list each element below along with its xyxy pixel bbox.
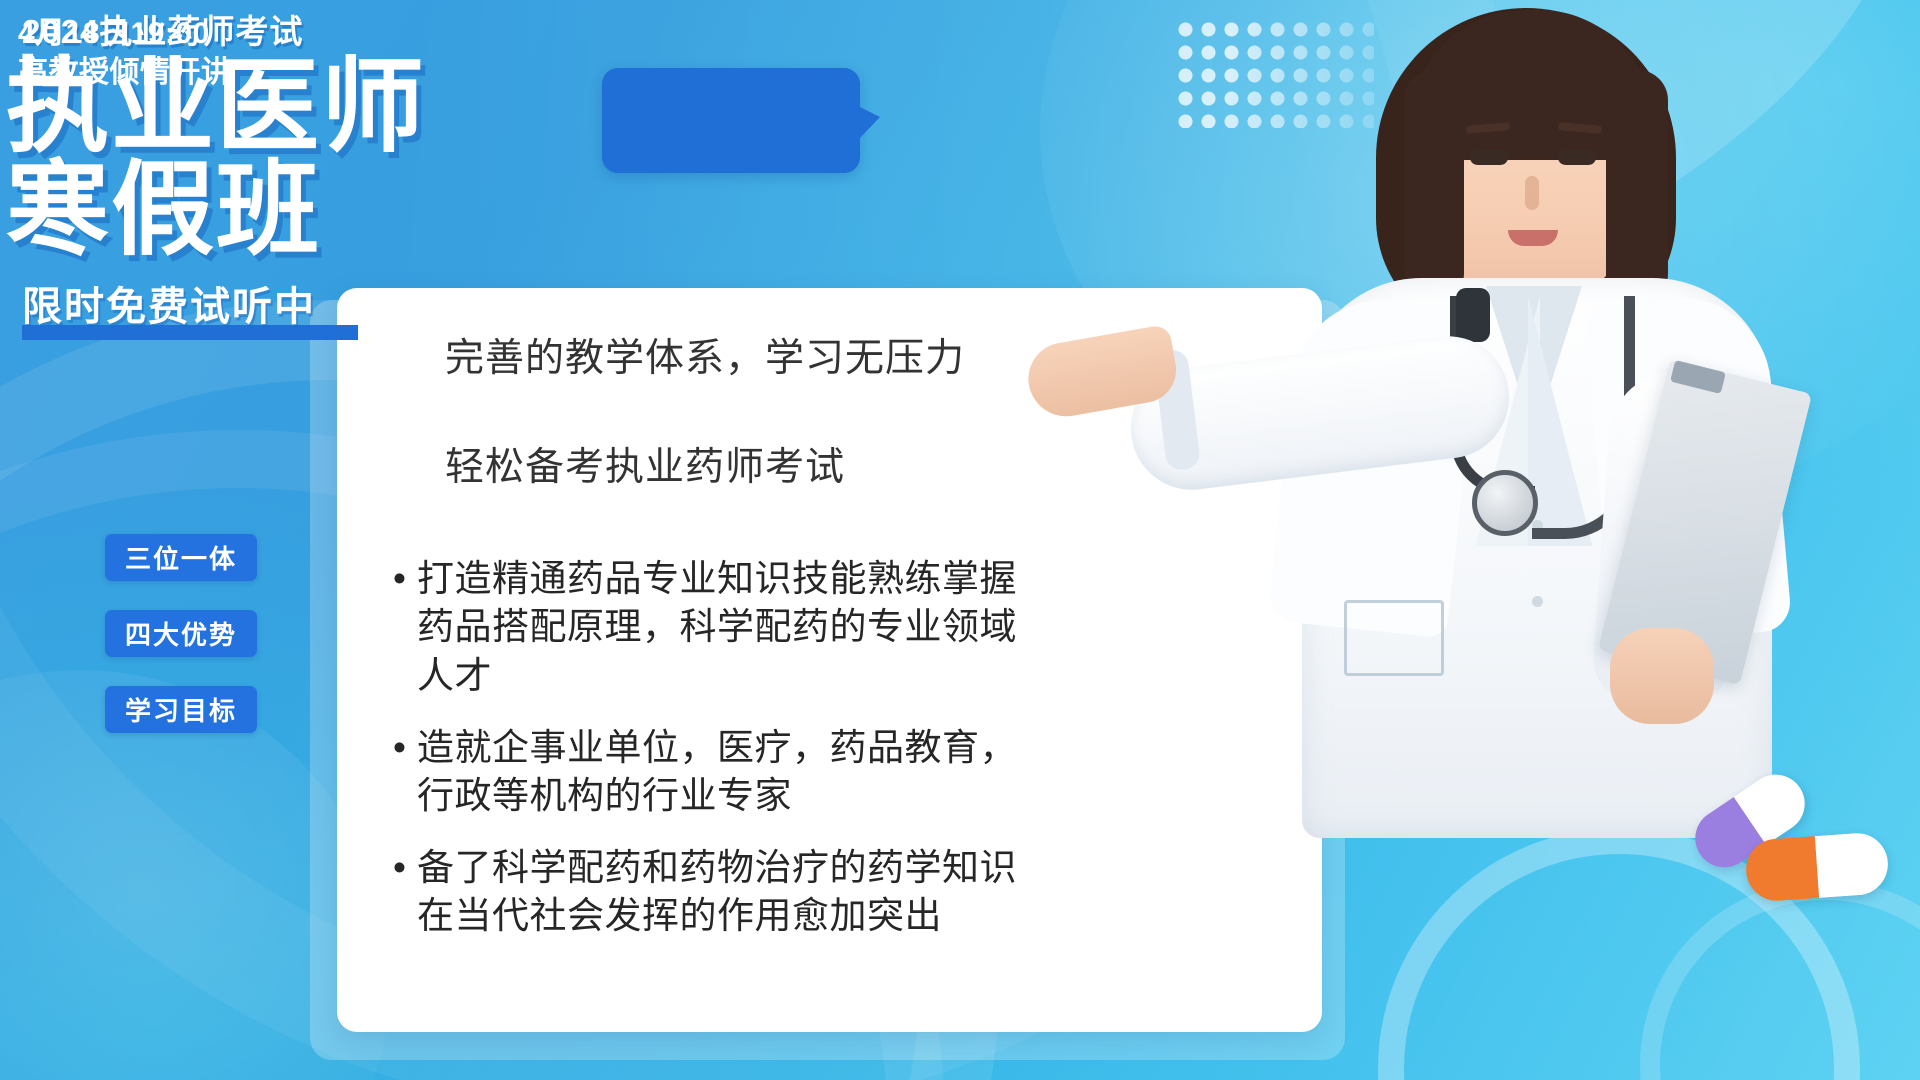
stethoscope-chestpiece bbox=[1472, 470, 1538, 536]
list-item-text: 备了科学配药和药物治疗的药学知识 在当代社会发挥的作用愈加突出 bbox=[417, 844, 1266, 940]
doctor-hair-left bbox=[1404, 70, 1464, 300]
bullet-marker-icon: • bbox=[393, 844, 417, 892]
doctor-nose bbox=[1525, 176, 1539, 210]
stethoscope-clip bbox=[1456, 288, 1490, 342]
bullet-marker-icon: • bbox=[393, 555, 417, 603]
list-item-line: 备了科学配药和药物治疗的药学知识 bbox=[417, 844, 1266, 892]
pill-half-white bbox=[1815, 831, 1890, 898]
pill-half-colored bbox=[1744, 836, 1819, 903]
poster-root: 2024执业药师考试 执业医师 寒假班 限时免费试听中 三位一体 四大优势 学习… bbox=[0, 0, 1920, 1080]
list-item-line: 造就企事业单位，医疗，药品教育， bbox=[417, 724, 1266, 772]
subtitle-wrap: 限时免费试听中 bbox=[14, 274, 364, 332]
doctor-hair-right bbox=[1606, 70, 1668, 308]
doctor-eye-right bbox=[1558, 150, 1596, 165]
tag-item-1[interactable]: 三位一体 bbox=[105, 534, 257, 581]
bullet-list: • 打造精通药品专业知识技能熟练掌握 药品搭配原理，科学配药的专业领域 人才 •… bbox=[393, 555, 1266, 940]
badge-speaker: 高教授倾情开讲 bbox=[18, 53, 258, 92]
tag-list: 三位一体 四大优势 学习目标 bbox=[105, 534, 257, 733]
list-item: • 造就企事业单位，医疗，药品教育， 行政等机构的行业专家 bbox=[393, 724, 1266, 820]
tag-item-3[interactable]: 学习目标 bbox=[105, 686, 257, 733]
subtitle-text: 限时免费试听中 bbox=[14, 274, 364, 332]
list-item-line: 药品搭配原理，科学配药的专业领域 bbox=[417, 603, 1266, 651]
page-title-line2: 寒假班 bbox=[6, 161, 620, 260]
list-item-line: 在当代社会发挥的作用愈加突出 bbox=[417, 892, 1266, 940]
tag-item-2[interactable]: 四大优势 bbox=[105, 610, 257, 657]
list-item: • 备了科学配药和药物治疗的药学知识 在当代社会发挥的作用愈加突出 bbox=[393, 844, 1266, 940]
list-item-text: 打造精通药品专业知识技能熟练掌握 药品搭配原理，科学配药的专业领域 人才 bbox=[417, 555, 1266, 699]
list-item-line: 人才 bbox=[417, 652, 1266, 700]
list-item-line: 打造精通药品专业知识技能熟练掌握 bbox=[417, 555, 1266, 603]
doctor-coat-pocket bbox=[1344, 600, 1444, 676]
date-badge-text: 4月18日19:00 高教授倾情开讲 bbox=[0, 0, 258, 105]
doctor-hand-right bbox=[1610, 628, 1714, 724]
doctor-photo bbox=[1280, 0, 1800, 840]
date-badge-tail bbox=[858, 106, 880, 140]
badge-date: 4月18日19:00 bbox=[18, 14, 258, 53]
date-badge bbox=[602, 68, 860, 173]
background-ring-bottom-small bbox=[1640, 880, 1920, 1080]
bullet-marker-icon: • bbox=[393, 724, 417, 772]
pill-capsule-orange-icon bbox=[1744, 831, 1890, 903]
doctor-eye-left bbox=[1470, 150, 1508, 165]
list-item: • 打造精通药品专业知识技能熟练掌握 药品搭配原理，科学配药的专业领域 人才 bbox=[393, 555, 1266, 699]
doctor-coat-button-2 bbox=[1532, 596, 1543, 607]
list-item-line: 行政等机构的行业专家 bbox=[417, 772, 1266, 820]
list-item-text: 造就企事业单位，医疗，药品教育， 行政等机构的行业专家 bbox=[417, 724, 1266, 820]
